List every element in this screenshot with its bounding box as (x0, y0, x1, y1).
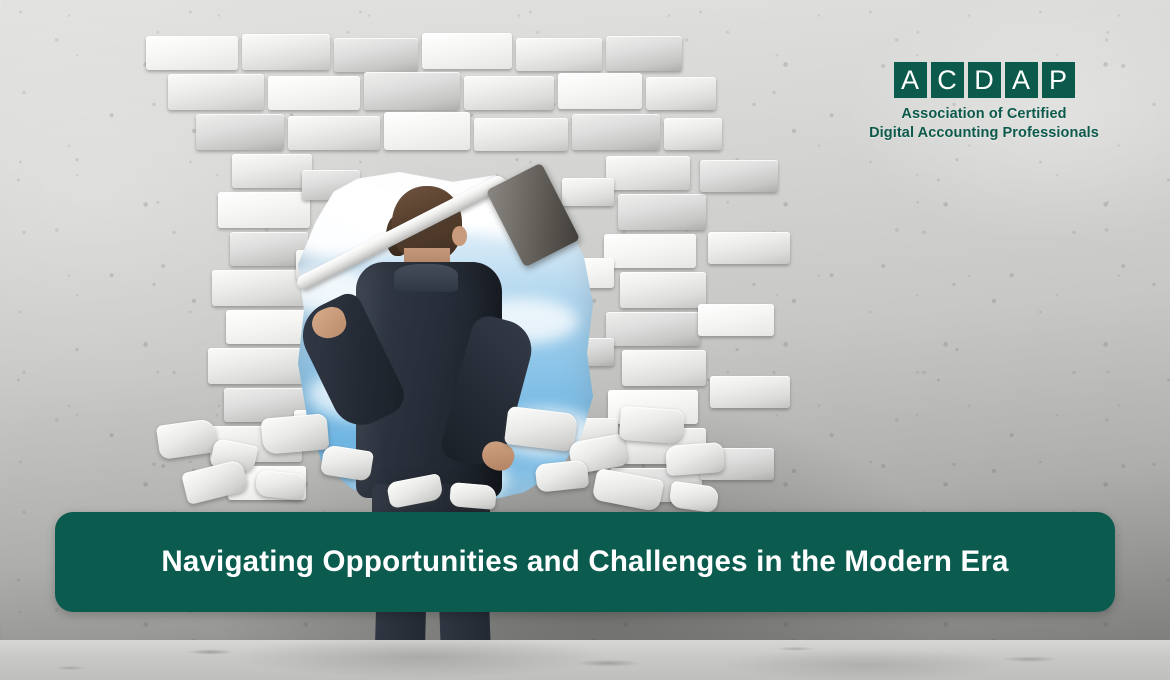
logo-letter-a1: A (894, 62, 927, 98)
banner-title: Navigating Opportunities and Challenges … (161, 545, 1008, 579)
floor-marks (0, 640, 1170, 680)
logo-letter-p: P (1042, 62, 1075, 98)
tagline-line-2: Digital Accounting Professionals (866, 124, 1102, 143)
banner-graphic: A C D A P Association of Certified Digit… (0, 0, 1170, 680)
logo-letter-a2: A (1005, 62, 1038, 98)
acdap-logo: A C D A P Association of Certified Digit… (866, 62, 1102, 142)
acdap-tagline: Association of Certified Digital Account… (866, 105, 1102, 142)
concrete-floor (0, 640, 1170, 680)
logo-letter-d: D (968, 62, 1001, 98)
title-banner: Navigating Opportunities and Challenges … (55, 512, 1115, 612)
acdap-logo-tiles: A C D A P (866, 62, 1102, 98)
tagline-line-1: Association of Certified (866, 105, 1102, 124)
ear (452, 226, 467, 246)
logo-letter-c: C (931, 62, 964, 98)
jacket-collar (394, 264, 458, 292)
